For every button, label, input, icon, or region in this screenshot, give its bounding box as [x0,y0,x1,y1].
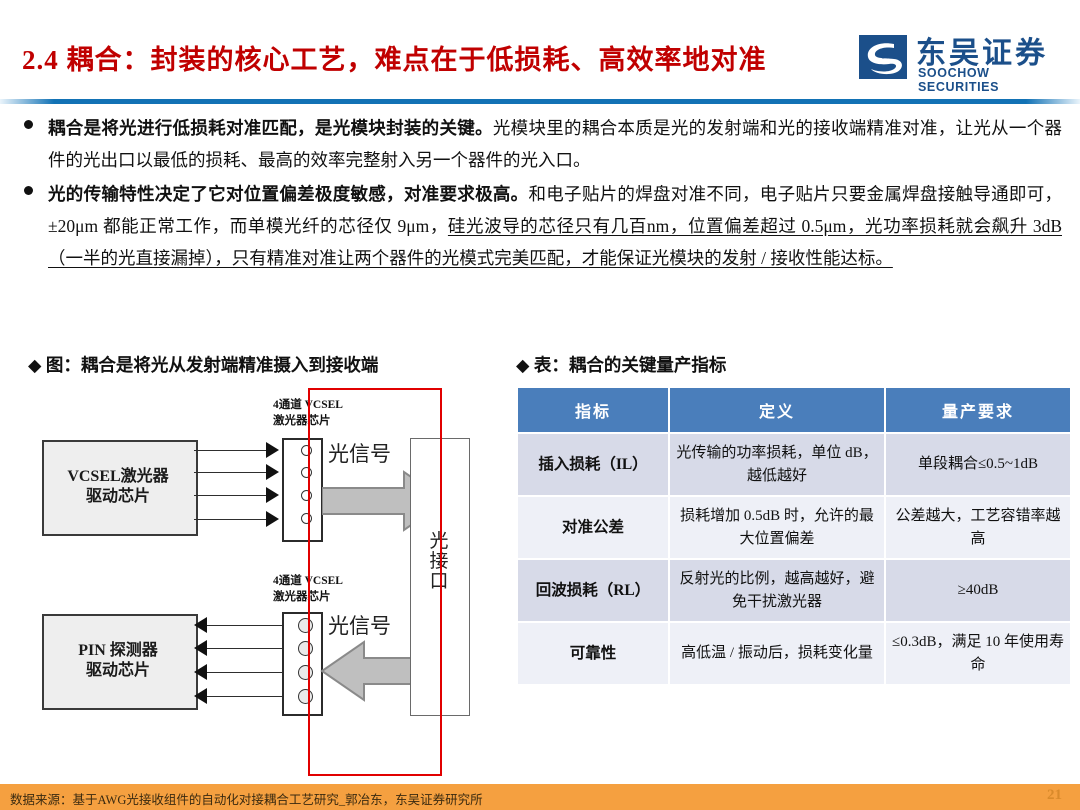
rx-lead-3 [207,672,282,673]
tx-lead-4 [194,519,268,520]
tx-lead-3 [194,495,268,496]
table-header-row: 指标 定义 量产要求 [518,388,1070,432]
company-logo: 东吴证券 SOOCHOW SECURITIES [858,30,1066,88]
bullet-2-bold: 光的传输特性决定了它对位置偏差极度敏感，对准要求极高。 [48,184,528,204]
bullet-item-2: 光的传输特性决定了它对位置偏差极度敏感，对准要求极高。和电子贴片的焊盘对准不同，… [22,178,1062,274]
tx-lead-1 [194,450,268,451]
rx-arrow-1-icon [194,617,207,633]
pin-detector-label: PIN 探测器 驱动芯片 [42,641,194,681]
row-3-metric: 可靠性 [518,623,668,684]
rx-lead-2 [207,648,282,649]
pin-detector-label-line2: 驱动芯片 [42,661,194,681]
bullet-dot-icon [24,120,33,129]
bullet-dot-icon [24,186,33,195]
tx-lead-2 [194,472,268,473]
footer-bar: 数据来源：基于AWG光接收组件的自动化对接耦合工艺研究_郭冶东，东吴证券研究所 … [0,784,1080,810]
table-row: 插入损耗（IL） 光传输的功率损耗，单位 dB，越低越好 单段耦合≤0.5~1d… [518,434,1070,495]
tx-arrow-2-icon [266,464,279,480]
row-2-metric: 回波损耗（RL） [518,560,668,621]
row-0-metric: 插入损耗（IL） [518,434,668,495]
metrics-table: 指标 定义 量产要求 插入损耗（IL） 光传输的功率损耗，单位 dB，越低越好 … [516,386,1072,686]
soochow-logo-icon [858,34,908,80]
tx-arrow-1-icon [266,442,279,458]
table-header-requirement: 量产要求 [886,388,1070,432]
tx-arrow-4-icon [266,511,279,527]
body-bullets: 耦合是将光进行低损耗对准匹配，是光模块封装的关键。光模块里的耦合本质是光的发射端… [22,112,1062,276]
source-note: 数据来源：基于AWG光接收组件的自动化对接耦合工艺研究_郭冶东，东吴证券研究所 [10,789,483,808]
bullet-item-1: 耦合是将光进行低损耗对准匹配，是光模块封装的关键。光模块里的耦合本质是光的发射端… [22,112,1062,176]
row-2-definition: 反射光的比例，越高越好，避免干扰激光器 [670,560,884,621]
row-1-definition: 损耗增加 0.5dB 时，允许的最大位置偏差 [670,497,884,558]
vcsel-driver-label: VCSEL激光器 驱动芯片 [42,467,194,507]
bullet-1-bold: 耦合是将光进行低损耗对准匹配，是光模块封装的关键。 [48,118,493,138]
row-0-requirement: 单段耦合≤0.5~1dB [886,434,1070,495]
logo-text-en: SOOCHOW SECURITIES [918,66,1066,94]
table-row: 回波损耗（RL） 反射光的比例，越高越好，避免干扰激光器 ≥40dB [518,560,1070,621]
tx-arrow-3-icon [266,487,279,503]
pin-detector-label-line1: PIN 探测器 [42,641,194,661]
slide-root: 2.4 耦合：封装的核心工艺，难点在于低损耗、高效率地对准 东吴证券 SOOCH… [0,0,1080,810]
rx-arrow-4-icon [194,688,207,704]
table-row: 可靠性 高低温 / 振动后，损耗变化量 ≤0.3dB，满足 10 年使用寿命 [518,623,1070,684]
row-1-requirement: 公差越大，工艺容错率越高 [886,497,1070,558]
header-divider [0,99,1080,104]
row-0-definition: 光传输的功率损耗，单位 dB，越低越好 [670,434,884,495]
page-number: 21 [1047,787,1062,804]
row-1-metric: 对准公差 [518,497,668,558]
row-3-requirement: ≤0.3dB，满足 10 年使用寿命 [886,623,1070,684]
coupling-highlight-region [308,388,442,776]
rx-arrow-2-icon [194,640,207,656]
table-header-definition: 定义 [670,388,884,432]
rx-lead-1 [207,625,282,626]
rx-arrow-3-icon [194,664,207,680]
vcsel-driver-label-line1: VCSEL激光器 [42,467,194,487]
table-row: 对准公差 损耗增加 0.5dB 时，允许的最大位置偏差 公差越大，工艺容错率越高 [518,497,1070,558]
table-caption: ◆ 表：耦合的关键量产指标 [516,352,726,377]
row-3-definition: 高低温 / 振动后，损耗变化量 [670,623,884,684]
rx-lead-4 [207,696,282,697]
page-title: 2.4 耦合：封装的核心工艺，难点在于低损耗、高效率地对准 [22,38,767,77]
figure-caption: ◆ 图：耦合是将光从发射端精准摄入到接收端 [28,352,378,377]
vcsel-driver-label-line2: 驱动芯片 [42,487,194,507]
coupling-diagram: VCSEL激光器 驱动芯片 4通道 VCSEL 激光器芯片 光信号 PIN 探测 [18,382,496,774]
table-header-metric: 指标 [518,388,668,432]
row-2-requirement: ≥40dB [886,560,1070,621]
